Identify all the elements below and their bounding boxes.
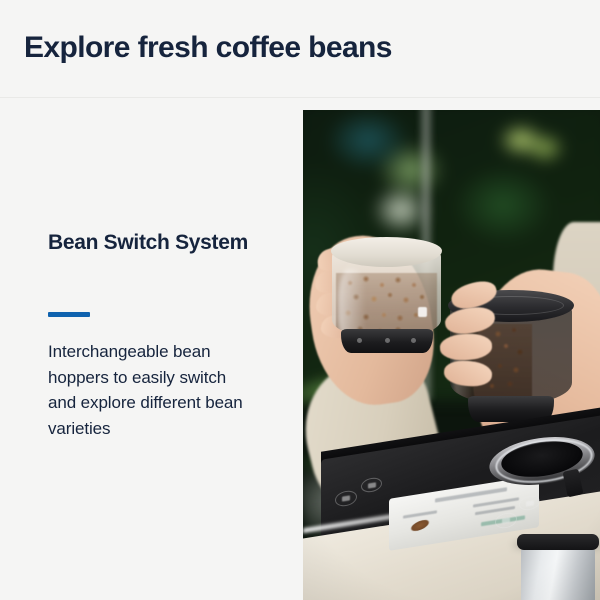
hopper-light-base-ring: [341, 329, 433, 353]
content-area: Bean Switch System Interchangeable bean …: [0, 98, 600, 600]
touch-control-glyph: [526, 500, 534, 506]
feature-description: Interchangeable bean hoppers to easily s…: [48, 339, 253, 441]
photo-inner: [303, 110, 600, 600]
touch-control-glyph: [342, 495, 350, 501]
hopper-light-badge: [418, 307, 427, 317]
display-bean-icon: [410, 518, 430, 534]
bean-hopper-light: [329, 237, 444, 353]
left-text-pane: Bean Switch System Interchangeable bean …: [0, 98, 303, 600]
touch-control-glyph: [502, 517, 510, 523]
promo-card: Explore fresh coffee beans Bean Switch S…: [0, 0, 600, 600]
brew-group-opening: [489, 428, 595, 490]
touch-control-glyph: [368, 482, 376, 488]
milk-carafe: [521, 546, 595, 600]
feature-heading: Bean Switch System: [48, 229, 268, 256]
accent-divider: [48, 312, 90, 317]
display-text-line: [403, 510, 437, 518]
page-title: Explore fresh coffee beans: [24, 29, 392, 67]
hopper-base-dot: [385, 338, 390, 343]
hopper-base-dot: [411, 338, 416, 343]
hopper-light-highlight: [338, 269, 366, 337]
header: Explore fresh coffee beans: [0, 0, 600, 97]
product-photo: [303, 110, 600, 600]
hopper-base-dot: [357, 338, 362, 343]
milk-carafe-lid: [517, 534, 599, 550]
